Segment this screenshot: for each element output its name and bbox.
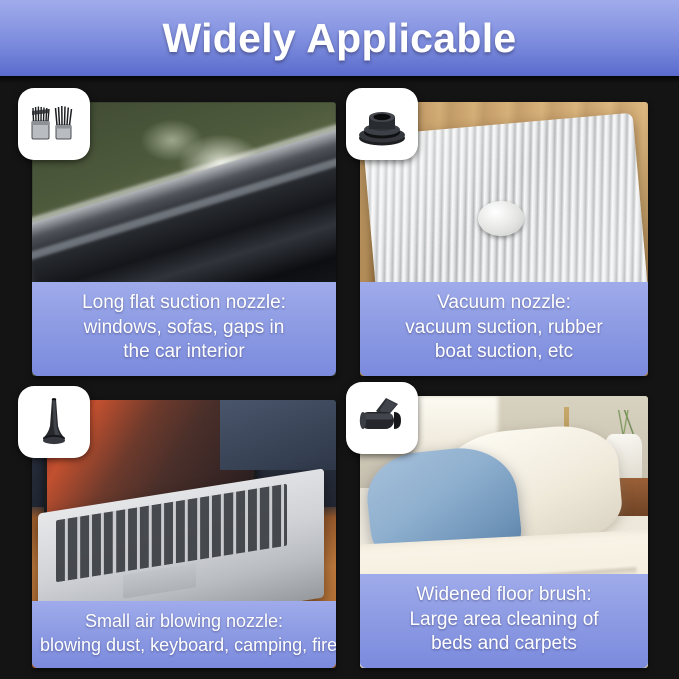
caption-line: windows, sofas, gaps in [40, 316, 328, 341]
caption-line: the car interior [40, 340, 328, 365]
banner-drop-shadow [0, 76, 679, 84]
air-blowing-nozzle-icon [18, 386, 90, 458]
card-caption: Long flat suction nozzle: windows, sofas… [32, 282, 336, 376]
caption-line: blowing dust, keyboard, camping, fire [40, 634, 328, 657]
caption-line: vacuum suction, rubber [368, 316, 640, 341]
caption-line: boat suction, etc [368, 340, 640, 365]
card-caption: Small air blowing nozzle: blowing dust, … [32, 601, 336, 668]
card-caption: Widened floor brush: Large area cleaning… [360, 574, 648, 668]
feature-grid: Long flat suction nozzle: windows, sofas… [0, 84, 679, 672]
caption-line: Large area cleaning of [368, 608, 640, 633]
card-caption: Vacuum nozzle: vacuum suction, rubber bo… [360, 282, 648, 376]
caption-line: Small air blowing nozzle: [40, 610, 328, 633]
brush-nozzle-icon [18, 88, 90, 160]
vacuum-nozzle-icon [346, 88, 418, 160]
caption-line: beds and carpets [368, 632, 640, 657]
caption-line: Vacuum nozzle: [368, 291, 640, 316]
page-title: Widely Applicable [162, 15, 516, 62]
feature-card-small-air-blowing-nozzle: Small air blowing nozzle: blowing dust, … [32, 386, 336, 668]
floor-brush-icon [346, 382, 418, 454]
header-banner: Widely Applicable [0, 0, 679, 76]
infographic-page: Widely Applicable Long flat suction nozz… [0, 0, 679, 679]
feature-card-vacuum-nozzle: Vacuum nozzle: vacuum suction, rubber bo… [360, 88, 648, 376]
caption-line: Widened floor brush: [368, 583, 640, 608]
caption-line: Long flat suction nozzle: [40, 291, 328, 316]
feature-card-long-flat-suction-nozzle: Long flat suction nozzle: windows, sofas… [32, 88, 336, 376]
feature-card-widened-floor-brush: Widened floor brush: Large area cleaning… [360, 382, 648, 668]
